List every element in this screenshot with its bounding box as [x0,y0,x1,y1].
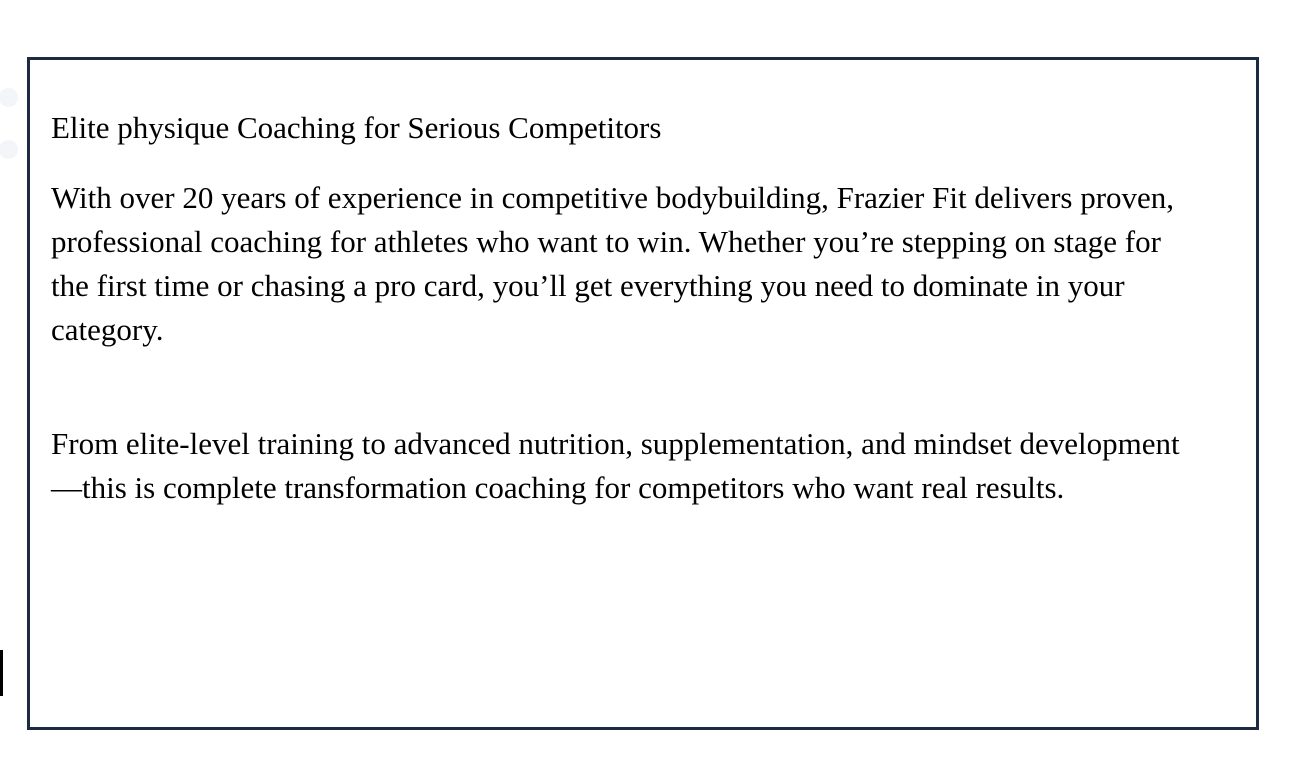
left-edge-marker [0,650,3,696]
bordered-content-frame: Elite physique Coaching for Serious Comp… [27,57,1259,730]
gutter-bullet-marker-2 [0,140,18,159]
frame-inner-content: Elite physique Coaching for Serious Comp… [30,60,1256,510]
body-paragraph-2: From elite-level training to advanced nu… [51,422,1200,510]
page-title: Elite physique Coaching for Serious Comp… [51,106,1200,150]
body-paragraph-1: With over 20 years of experience in comp… [51,176,1200,352]
gutter-bullet-marker-1 [0,88,18,107]
